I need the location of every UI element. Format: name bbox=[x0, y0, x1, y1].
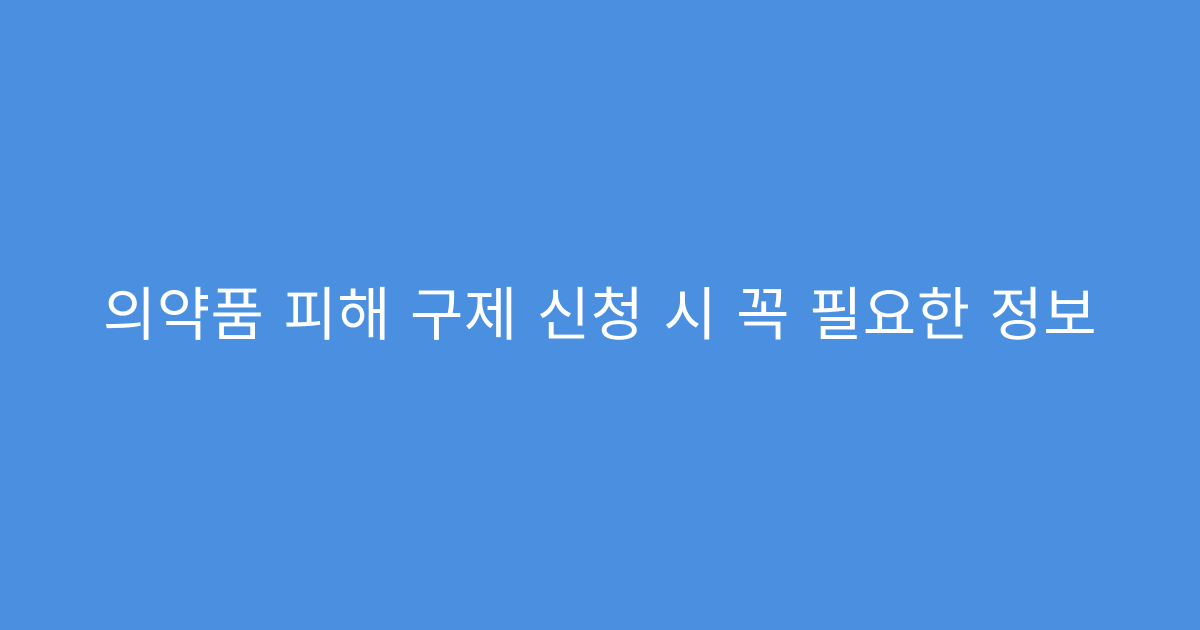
og-card-canvas: 의약품 피해 구제 신청 시 꼭 필요한 정보 bbox=[0, 0, 1200, 630]
page-title: 의약품 피해 구제 신청 시 꼭 필요한 정보 bbox=[70, 277, 1130, 354]
